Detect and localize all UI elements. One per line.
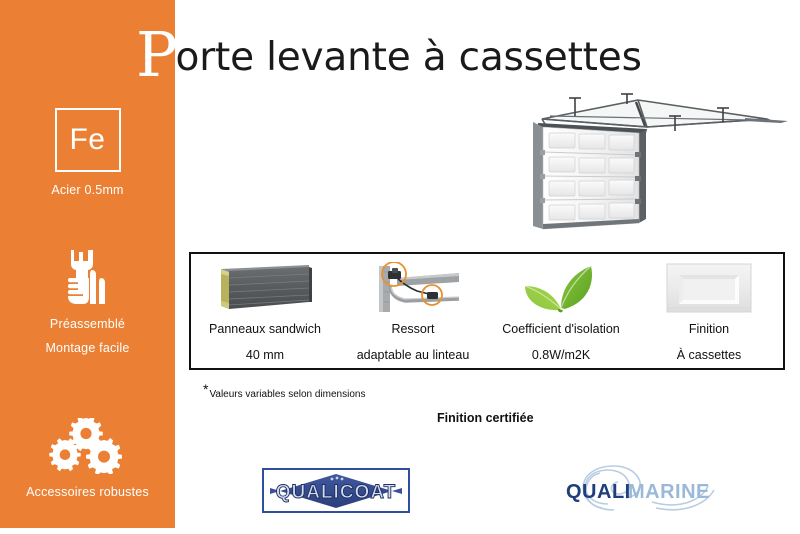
qualimarine-logo: QUALI MARINE bbox=[556, 462, 721, 518]
footnote: *Valeurs variables selon dimensions bbox=[203, 383, 365, 401]
feature-panel-title: Panneaux sandwich bbox=[209, 322, 321, 337]
page-title-rest: orte levante à cassettes bbox=[176, 35, 642, 80]
fe-symbol-label: Fe bbox=[69, 125, 105, 155]
sectional-garage-door-photo bbox=[505, 86, 790, 231]
sandwich-panel-image bbox=[213, 260, 317, 315]
feature-insulation-title: Coefficient d'isolation bbox=[502, 322, 620, 337]
page-title: Porte levante à cassettes bbox=[136, 24, 642, 86]
feature-finish-title: Finition bbox=[689, 322, 729, 337]
sidebar-label-steel: Acier 0.5mm bbox=[0, 182, 175, 199]
footnote-asterisk: * bbox=[203, 381, 208, 397]
feature-spring-title: Ressort bbox=[391, 322, 434, 337]
cassette-finish-image bbox=[661, 260, 757, 315]
feature-panel-value: 40 mm bbox=[246, 348, 284, 363]
feature-spring-value: adaptable au linteau bbox=[357, 348, 470, 363]
certified-finish-label: Finition certifiée bbox=[437, 411, 534, 425]
qualimarine-text-light: MARINE bbox=[628, 481, 710, 503]
feature-box: Panneaux sandwich 40 mm bbox=[189, 252, 785, 370]
sidebar-item-accessories: Accessoires robustes bbox=[0, 418, 175, 501]
hand-wrench-icon bbox=[0, 248, 175, 306]
sidebar-item-steel: Fe Acier 0.5mm bbox=[0, 108, 175, 199]
feature-insulation-value: 0.8W/m2K bbox=[532, 348, 590, 363]
sidebar-label-preassembled: Préassemblé bbox=[0, 316, 175, 333]
gears-icon bbox=[0, 418, 175, 474]
feature-finish: Finition À cassettes bbox=[635, 254, 783, 368]
feature-panel: Panneaux sandwich 40 mm bbox=[191, 254, 339, 368]
feature-finish-value: À cassettes bbox=[677, 348, 742, 363]
qualimarine-text-bold: QUALI bbox=[566, 481, 631, 503]
product-sheet-page: Fe Acier 0.5mm bbox=[0, 0, 800, 534]
feature-spring: Ressort adaptable au linteau bbox=[339, 254, 487, 368]
sidebar-label-easy-assembly: Montage facile bbox=[0, 340, 175, 357]
green-leaves-icon bbox=[515, 260, 607, 315]
spring-hardware-image bbox=[361, 260, 465, 315]
page-title-initial: P bbox=[136, 18, 178, 91]
footnote-text: Valeurs variables selon dimensions bbox=[209, 389, 365, 400]
qualicoat-logo: QUALICOAT bbox=[262, 468, 410, 513]
svg-text:QUALICOAT: QUALICOAT bbox=[276, 482, 397, 503]
sidebar-label-accessories: Accessoires robustes bbox=[0, 484, 175, 501]
feature-insulation: Coefficient d'isolation 0.8W/m2K bbox=[487, 254, 635, 368]
sidebar-item-preassembled: Préassemblé Montage facile bbox=[0, 248, 175, 357]
fe-element-icon: Fe bbox=[55, 108, 121, 172]
